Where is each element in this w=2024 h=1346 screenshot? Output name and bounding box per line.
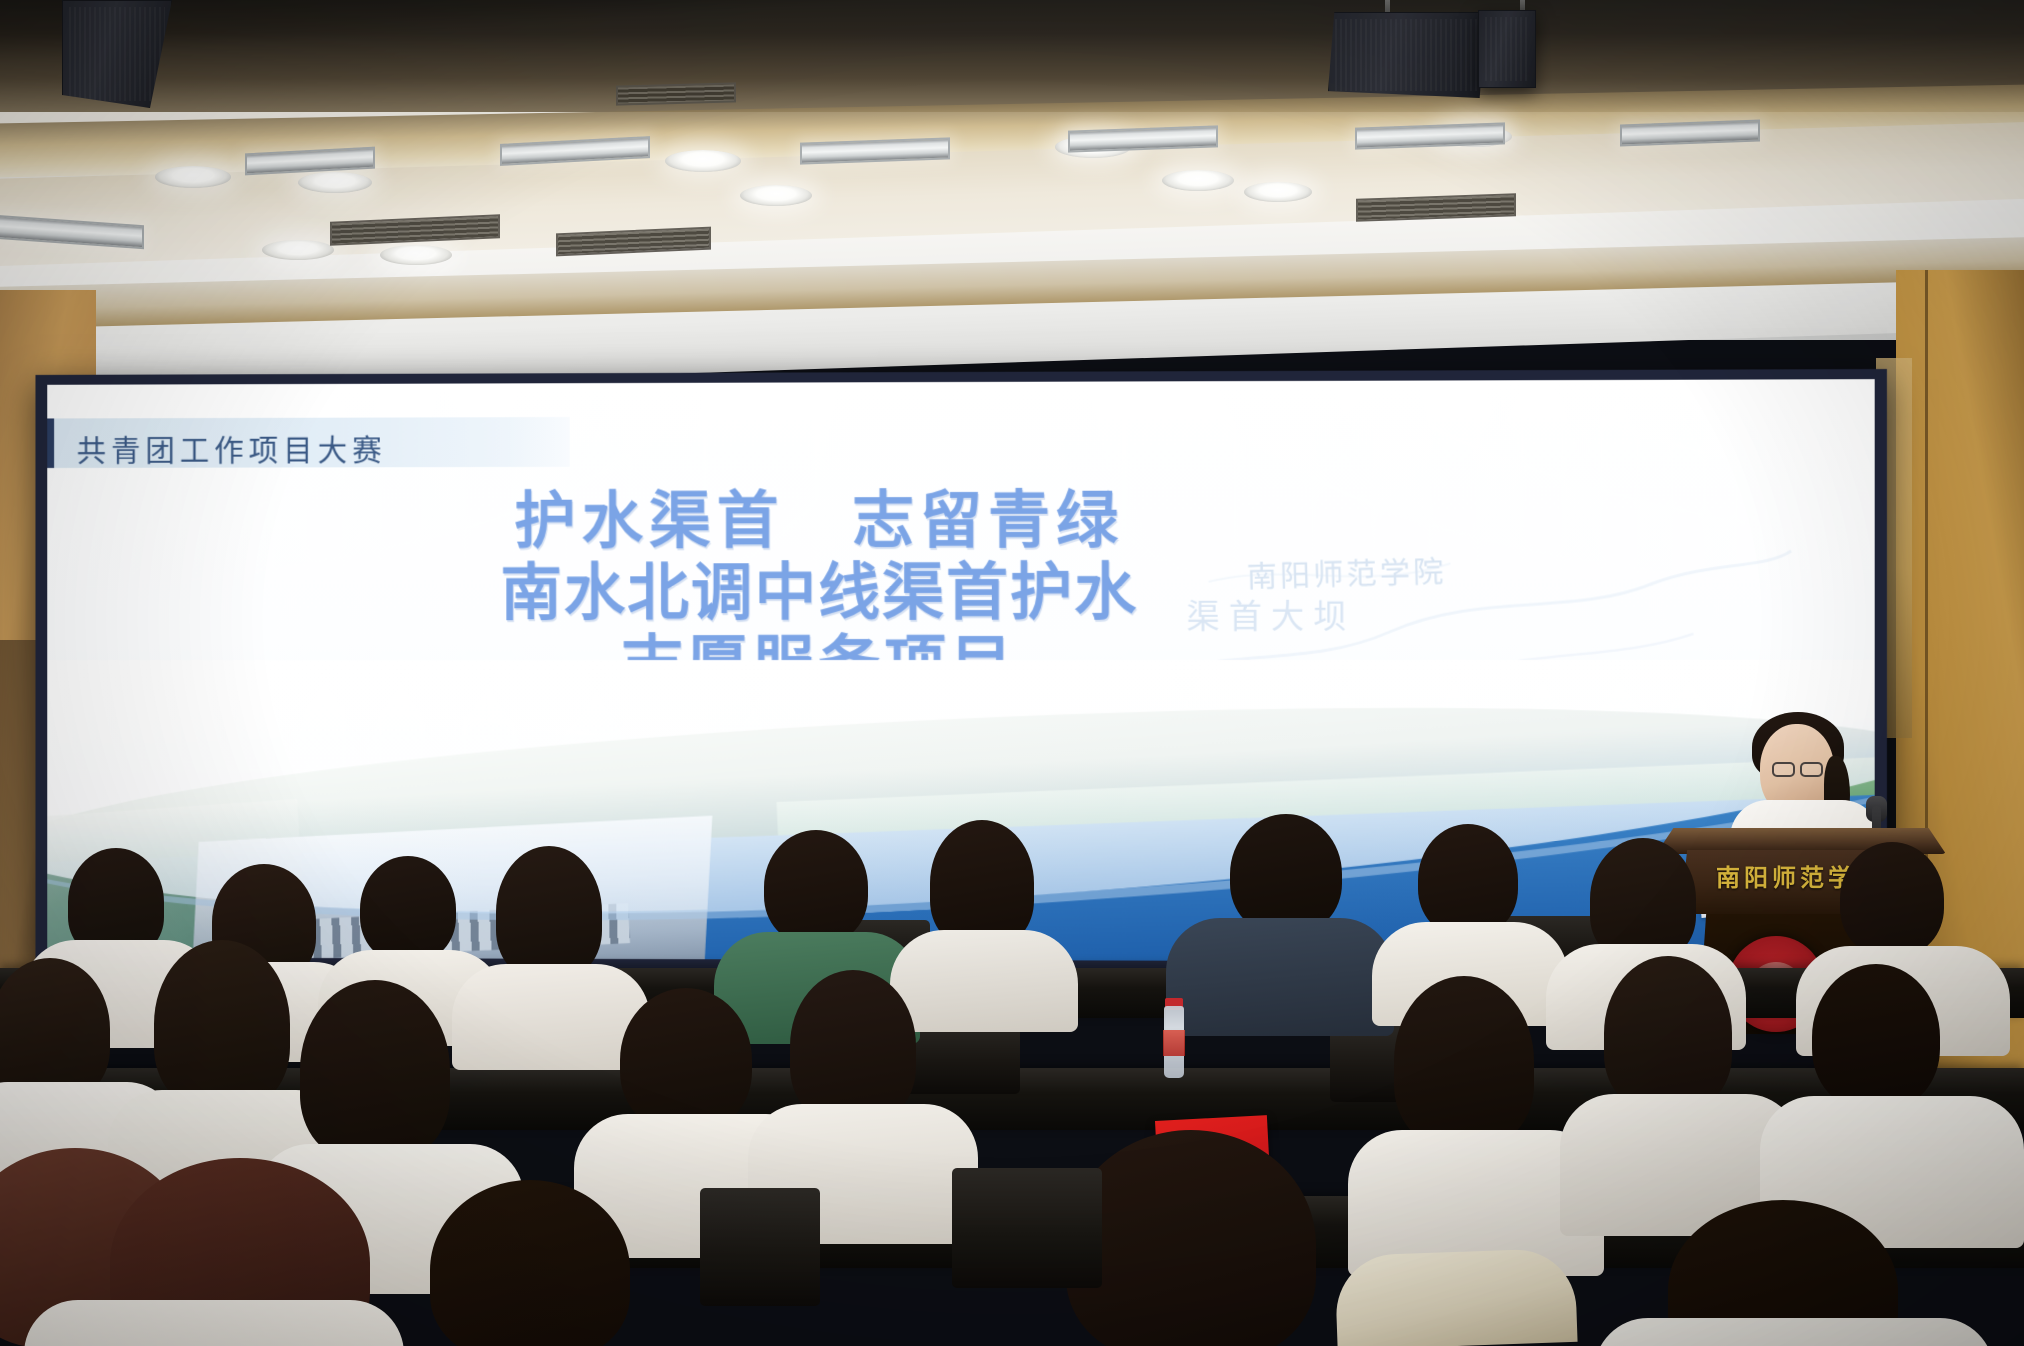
speaker-grille xyxy=(69,7,165,101)
slide-header-label: 共青团工作项目大赛 xyxy=(77,426,387,470)
audience-head xyxy=(0,958,110,1100)
slide-title-line-2: 南水北调中线渠首护水 xyxy=(47,557,1602,630)
audience-shoulders xyxy=(890,930,1078,1032)
audience-head xyxy=(1590,838,1696,960)
audience-head xyxy=(1418,824,1518,936)
audience-head xyxy=(1066,1130,1316,1346)
slide-title-line-1: 护水渠首 志留青绿 xyxy=(47,485,1602,559)
audience-head xyxy=(1604,956,1732,1110)
speaker-grille xyxy=(1485,17,1529,81)
hanging-speaker xyxy=(1328,12,1486,98)
audience-head xyxy=(1230,814,1342,934)
audience-head xyxy=(764,830,868,944)
audience-head xyxy=(1394,976,1534,1146)
audience-head xyxy=(496,846,602,978)
downlight-icon xyxy=(1162,170,1234,191)
seat-back xyxy=(952,1168,1102,1288)
audience-head xyxy=(154,940,290,1108)
downlight-icon xyxy=(298,172,372,193)
audience-area: 列 xyxy=(0,900,2024,1346)
audience-shoulders xyxy=(24,1300,404,1346)
audience-head xyxy=(300,980,450,1160)
tote-bag xyxy=(1334,1248,1577,1346)
speaker-grille xyxy=(1335,19,1479,91)
audience-head xyxy=(430,1180,630,1346)
downlight-icon xyxy=(155,166,231,188)
hanging-speaker xyxy=(1478,10,1536,88)
audience-head xyxy=(620,988,752,1132)
ceiling-vent-grille xyxy=(616,82,736,105)
audience-head xyxy=(930,820,1034,946)
audience-head xyxy=(1840,842,1944,956)
audience-shoulders xyxy=(1594,1318,1994,1346)
audience-shoulders xyxy=(1166,918,1394,1036)
lecture-hall-scene: 南阳师范学院 渠首大坝 共青团工作项目大赛 护水渠首 志留青绿 南水北调中线渠首… xyxy=(0,0,2024,1346)
slide-header-accent-bar xyxy=(47,418,54,468)
downlight-icon xyxy=(665,150,741,172)
seat-back xyxy=(700,1188,820,1306)
downlight-icon xyxy=(380,245,452,265)
downlight-icon xyxy=(1244,182,1312,202)
downlight-icon xyxy=(262,240,334,260)
audience-head xyxy=(1812,964,1940,1110)
downlight-icon xyxy=(740,185,812,206)
water-bottle-label xyxy=(1163,1030,1185,1056)
audience-head xyxy=(360,856,456,962)
audience-head xyxy=(790,970,916,1122)
